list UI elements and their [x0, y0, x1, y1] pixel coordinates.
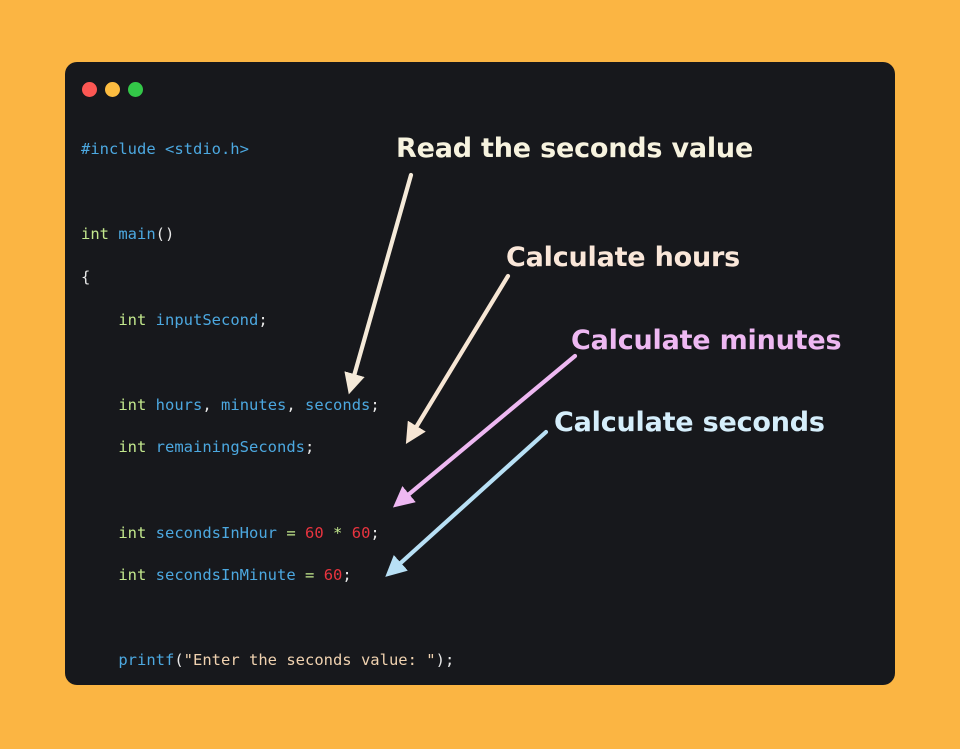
code-line: { — [81, 267, 881, 288]
window-titlebar — [65, 62, 895, 108]
annotation-calculate-hours: Calculate hours — [506, 242, 740, 273]
close-button[interactable] — [82, 82, 97, 97]
code-line: printf("Enter the seconds value: "); — [81, 650, 881, 671]
code-line: int secondsInHour = 60 * 60; — [81, 523, 881, 544]
annotation-read-the-seconds-value: Read the seconds value — [396, 133, 753, 164]
minimize-button[interactable] — [105, 82, 120, 97]
maximize-button[interactable] — [128, 82, 143, 97]
annotation-calculate-seconds: Calculate seconds — [554, 407, 825, 438]
code-block[interactable]: #include <stdio.h> int main() { int inpu… — [81, 118, 881, 685]
code-line: int main() — [81, 224, 881, 245]
code-line — [81, 182, 881, 203]
code-line — [81, 480, 881, 501]
code-line: int secondsInMinute = 60; — [81, 565, 881, 586]
code-line — [81, 608, 881, 629]
screenshot-stage: #include <stdio.h> int main() { int inpu… — [0, 0, 960, 749]
annotation-calculate-minutes: Calculate minutes — [571, 325, 841, 356]
code-line: int remainingSeconds; — [81, 437, 881, 458]
